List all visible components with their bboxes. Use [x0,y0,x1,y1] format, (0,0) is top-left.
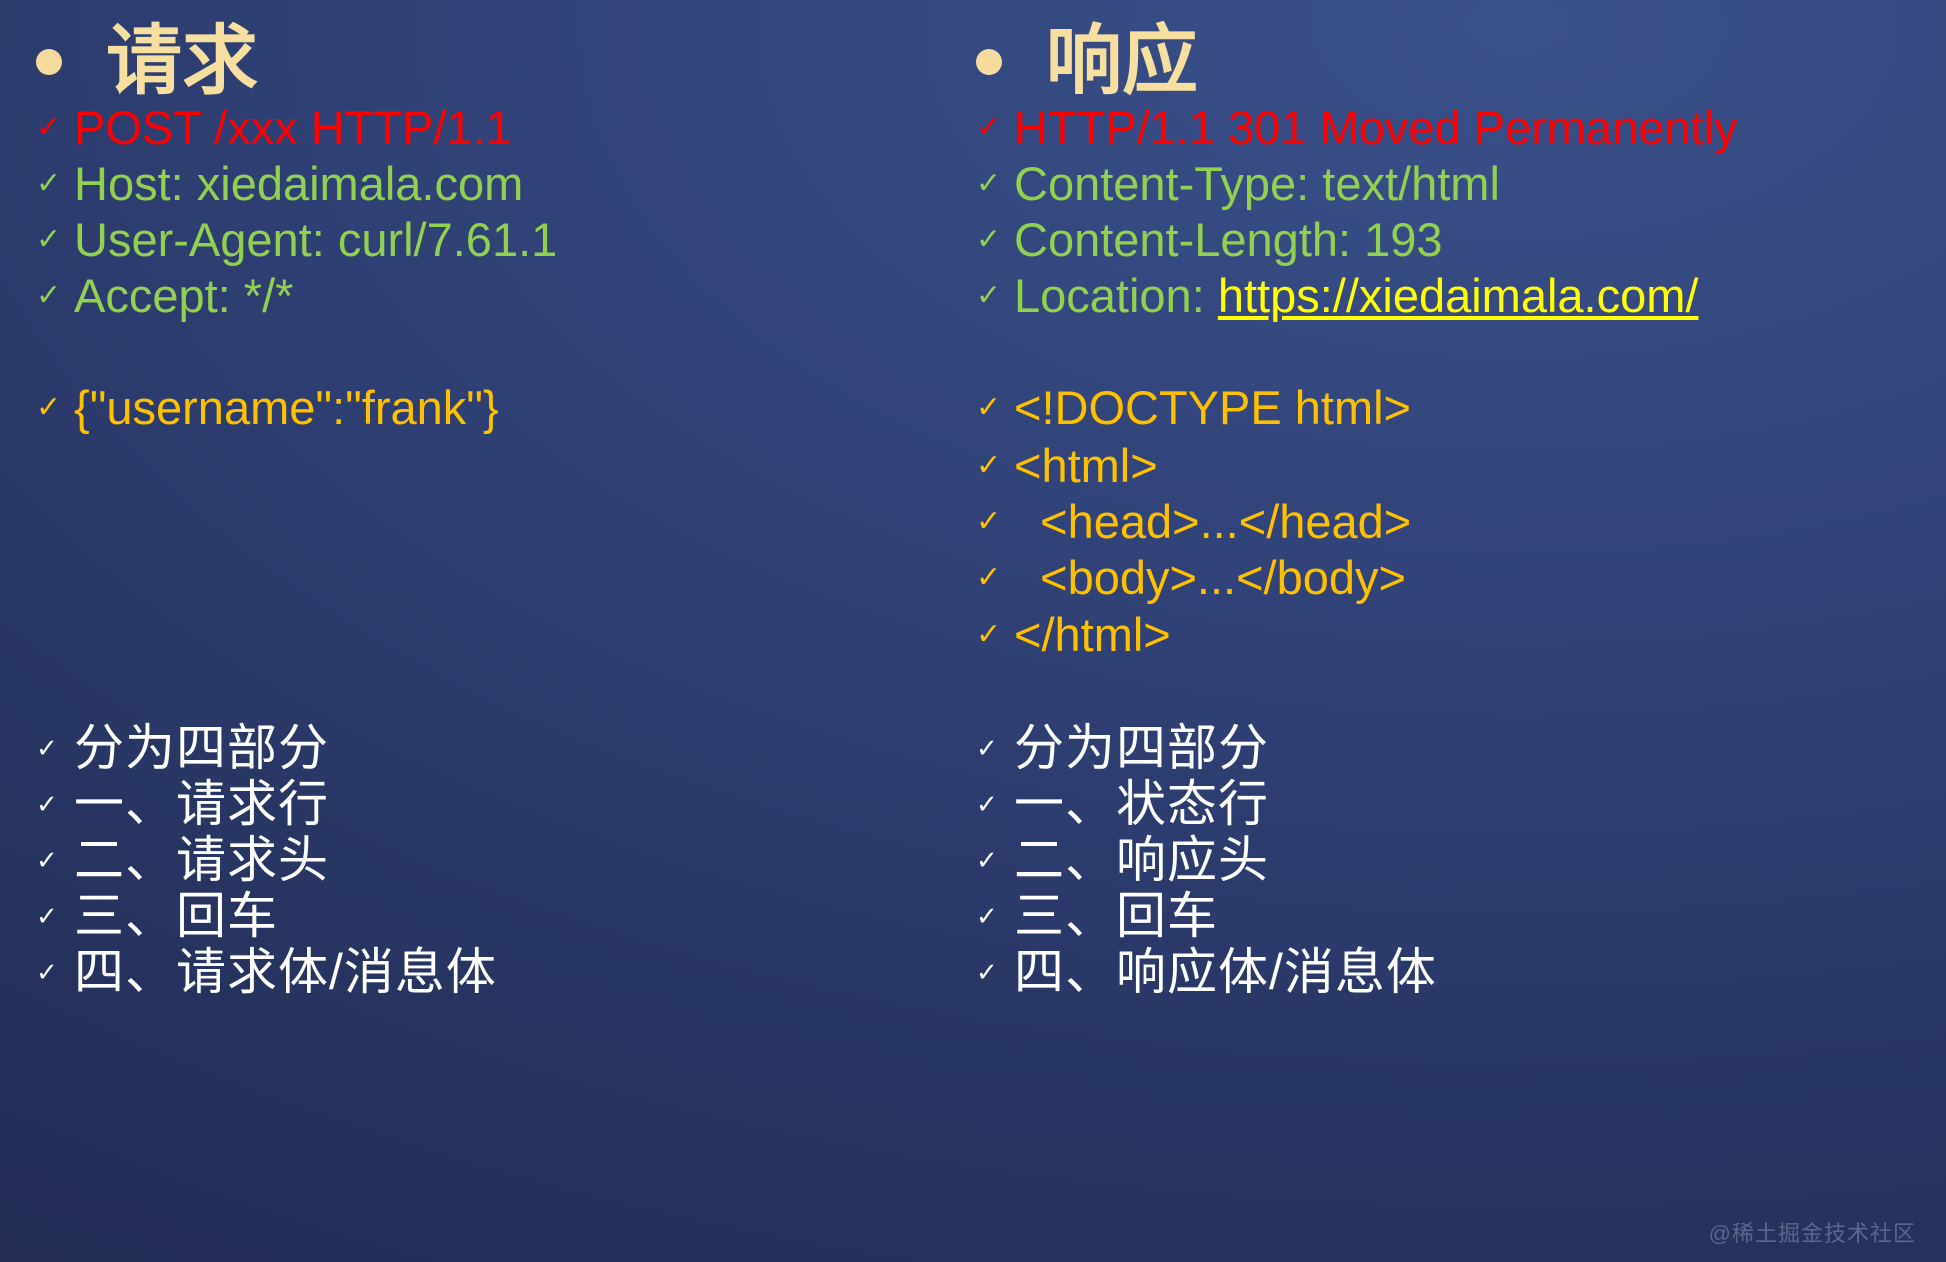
response-header-content-length: ✓ Content-Length: 193 [976,215,1443,264]
check-icon: ✓ [36,169,74,199]
check-icon: ✓ [36,735,74,761]
check-icon: ✓ [976,169,1014,199]
request-header-host-text: Host: xiedaimala.com [74,159,523,208]
request-heading-title: 请求 [106,24,258,100]
request-header-accept: ✓ Accept: */* [36,271,293,320]
response-summary-item-3: ✓ 三、回车 [976,890,1218,943]
response-header-content-type: ✓ Content-Type: text/html [976,159,1500,208]
response-body-text-2: <head>...</head> [1014,497,1411,546]
response-column: 响应 ✓ HTTP/1.1 301 Moved Permanently ✓ Co… [940,0,1946,1262]
request-summary-item-1: ✓ 一、请求行 [36,778,329,831]
check-icon: ✓ [36,225,74,255]
request-header-accept-text: Accept: */* [74,271,293,320]
request-summary-text-2: 二、请求头 [74,834,329,887]
check-icon: ✓ [36,903,74,929]
response-body-line-1: ✓ <html> [976,441,1158,490]
request-header-host: ✓ Host: xiedaimala.com [36,159,523,208]
check-icon: ✓ [976,620,1014,650]
check-icon: ✓ [976,959,1014,985]
request-summary-item-4: ✓ 四、请求体/消息体 [36,946,497,999]
response-header-location: ✓ Location: https://xiedaimala.com/ [976,271,1698,320]
request-header-user-agent-text: User-Agent: curl/7.61.1 [74,215,557,264]
response-summary-item-4: ✓ 四、响应体/消息体 [976,946,1437,999]
check-icon: ✓ [976,393,1014,423]
response-header-content-length-text: Content-Length: 193 [1014,215,1443,264]
check-icon: ✓ [36,281,74,311]
response-heading-row: 响应 [976,24,1198,100]
response-status-line: ✓ HTTP/1.1 301 Moved Permanently [976,103,1738,152]
response-body-text-0: <!DOCTYPE html> [1014,383,1411,432]
response-summary-item-1: ✓ 一、状态行 [976,778,1269,831]
request-summary-item-2: ✓ 二、请求头 [36,834,329,887]
request-column: 请求 ✓ POST /xxx HTTP/1.1 ✓ Host: xiedaima… [0,0,940,1262]
response-summary-text-4: 四、响应体/消息体 [1014,946,1437,999]
check-icon: ✓ [36,847,74,873]
check-icon: ✓ [976,735,1014,761]
response-body-text-4: </html> [1014,610,1171,659]
request-heading-row: 请求 [36,24,258,100]
check-icon: ✓ [36,113,74,143]
check-icon: ✓ [976,451,1014,481]
check-icon: ✓ [976,113,1014,143]
response-heading-title: 响应 [1046,24,1198,100]
response-body-text-3: <body>...</body> [1014,553,1406,602]
request-summary-text-1: 一、请求行 [74,778,329,831]
request-body-json: ✓ {"username":"frank"} [36,383,499,432]
request-body-json-text: {"username":"frank"} [74,383,499,432]
request-summary-text-4: 四、请求体/消息体 [74,946,497,999]
check-icon: ✓ [976,847,1014,873]
response-summary-text-1: 一、状态行 [1014,778,1269,831]
response-body-line-0: ✓ <!DOCTYPE html> [976,383,1411,432]
check-icon: ✓ [976,903,1014,929]
response-summary-item-0: ✓ 分为四部分 [976,722,1269,775]
response-body-line-3: ✓ <body>...</body> [976,553,1406,602]
check-icon: ✓ [36,959,74,985]
location-url-link[interactable]: https://xiedaimala.com/ [1218,271,1699,320]
watermark: @稀土掘金技术社区 [1709,1216,1916,1248]
response-header-content-type-text: Content-Type: text/html [1014,159,1500,208]
check-icon: ✓ [36,791,74,817]
request-summary-text-0: 分为四部分 [74,722,329,775]
request-header-user-agent: ✓ User-Agent: curl/7.61.1 [36,215,557,264]
response-summary-item-2: ✓ 二、响应头 [976,834,1269,887]
check-icon: ✓ [976,281,1014,311]
request-line-start-line: ✓ POST /xxx HTTP/1.1 [36,103,512,152]
response-body-line-4: ✓ </html> [976,610,1171,659]
check-icon: ✓ [976,563,1014,593]
check-icon: ✓ [36,393,74,423]
request-summary-text-3: 三、回车 [74,890,278,943]
filled-circle-bullet-icon [36,49,62,75]
request-start-line-text: POST /xxx HTTP/1.1 [74,103,512,152]
request-summary-item-3: ✓ 三、回车 [36,890,278,943]
response-header-location-label: Location: [1014,271,1218,320]
check-icon: ✓ [976,225,1014,255]
response-status-line-text: HTTP/1.1 301 Moved Permanently [1014,103,1738,152]
filled-circle-bullet-icon [976,49,1002,75]
response-body-line-2: ✓ <head>...</head> [976,497,1411,546]
slide-canvas: 请求 ✓ POST /xxx HTTP/1.1 ✓ Host: xiedaima… [0,0,1946,1262]
check-icon: ✓ [976,791,1014,817]
response-summary-text-3: 三、回车 [1014,890,1218,943]
response-summary-text-2: 二、响应头 [1014,834,1269,887]
check-icon: ✓ [976,507,1014,537]
request-summary-item-0: ✓ 分为四部分 [36,722,329,775]
response-summary-text-0: 分为四部分 [1014,722,1269,775]
response-body-text-1: <html> [1014,441,1158,490]
